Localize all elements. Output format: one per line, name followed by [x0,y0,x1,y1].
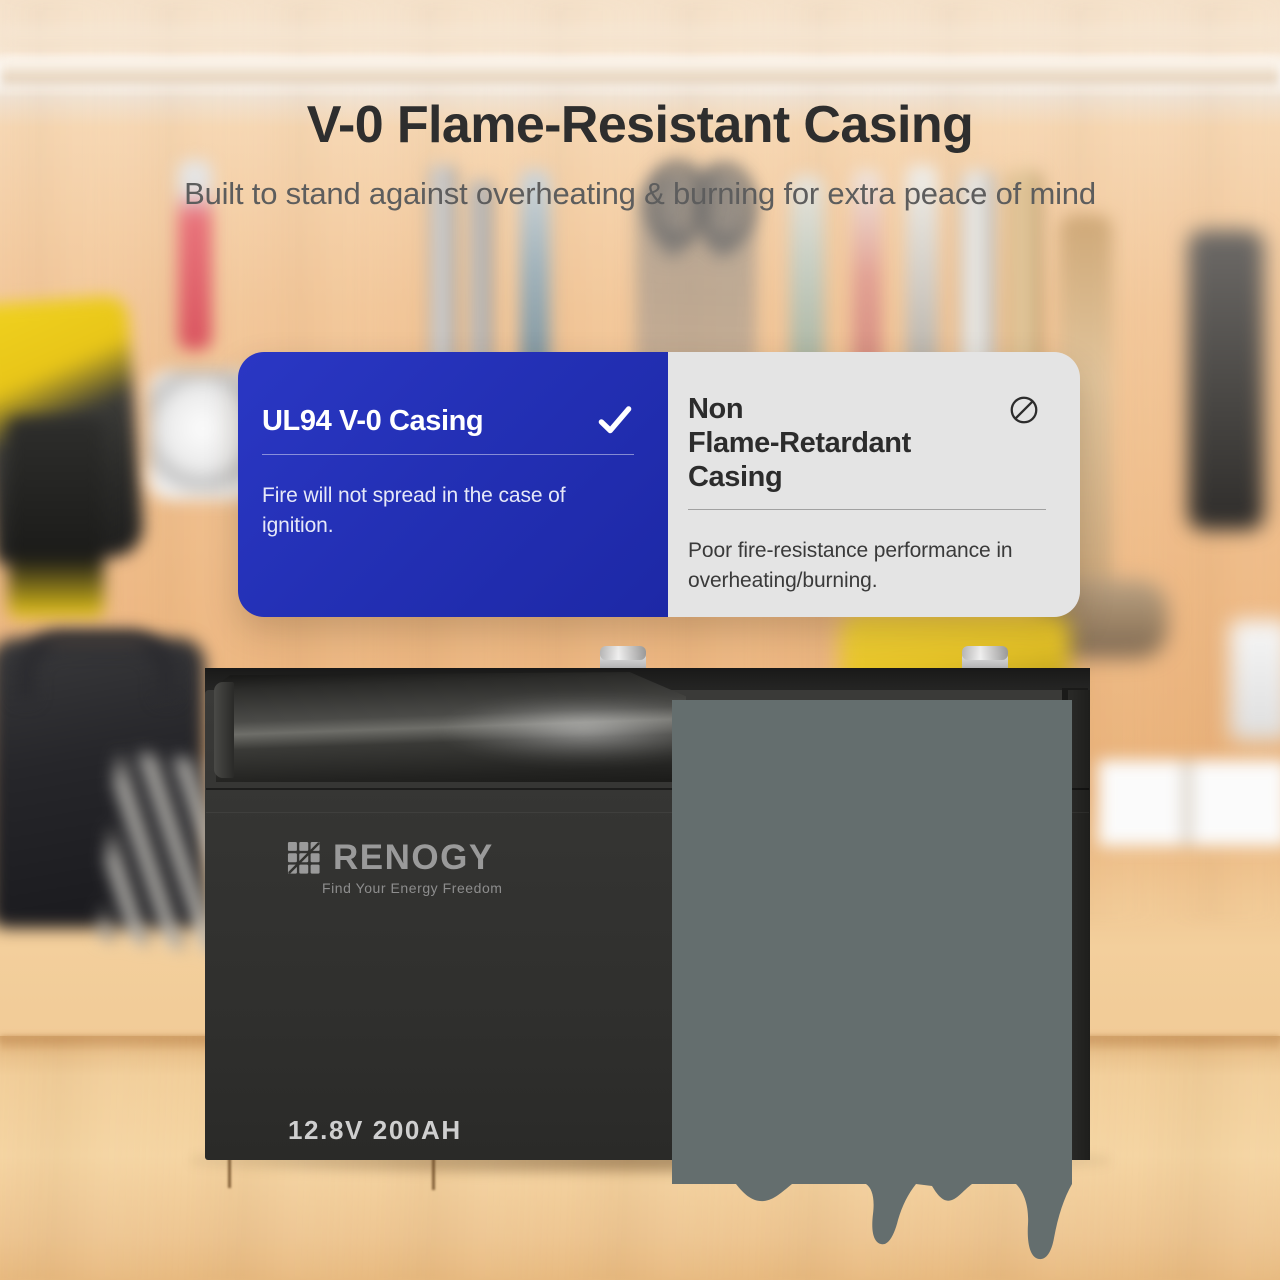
bad-panel-divider [688,509,1046,510]
good-panel-title: UL94 V-0 Casing [262,404,483,438]
comparison-card: UL94 V-0 Casing Fire will not spread in … [238,352,1080,617]
header-block: V-0 Flame-Resistant Casing Built to stan… [0,98,1280,212]
brand-name: RENOGY [333,838,494,878]
brand-tagline: Find Your Energy Freedom [322,880,503,896]
comparison-panel-bad[interactable]: Non Flame-Retardant Casing Poor fire-res… [668,352,1080,617]
page-title: V-0 Flame-Resistant Casing [0,98,1280,153]
melted-casing-overlay [672,700,1072,1178]
bad-panel-title-line2: Flame-Retardant Casing [688,427,911,493]
page-subtitle: Built to stand against overheating & bur… [0,175,1280,212]
renogy-grid-icon [287,841,321,875]
battery-spec-label: 12.8V 200AH [288,1115,462,1146]
comparison-panel-good[interactable]: UL94 V-0 Casing Fire will not spread in … [238,352,668,617]
battery-lid-lip [214,682,234,778]
bad-panel-body: Poor fire-resistance performance in over… [688,536,1046,597]
bad-panel-title-line1: Non [688,393,743,425]
check-icon [596,402,634,440]
battery-lid-highlight [440,700,690,762]
good-panel-body: Fire will not spread in the case of igni… [262,481,634,542]
melting-drip-shape [672,1154,1072,1274]
bad-panel-header: Non Flame-Retardant Casing [688,392,1046,495]
good-panel-divider [262,454,634,455]
good-panel-header: UL94 V-0 Casing [262,404,634,440]
bad-panel-title: Non Flame-Retardant Casing [688,392,1008,495]
brand-lockup: RENOGY [287,838,494,878]
prohibition-icon [1008,394,1040,426]
